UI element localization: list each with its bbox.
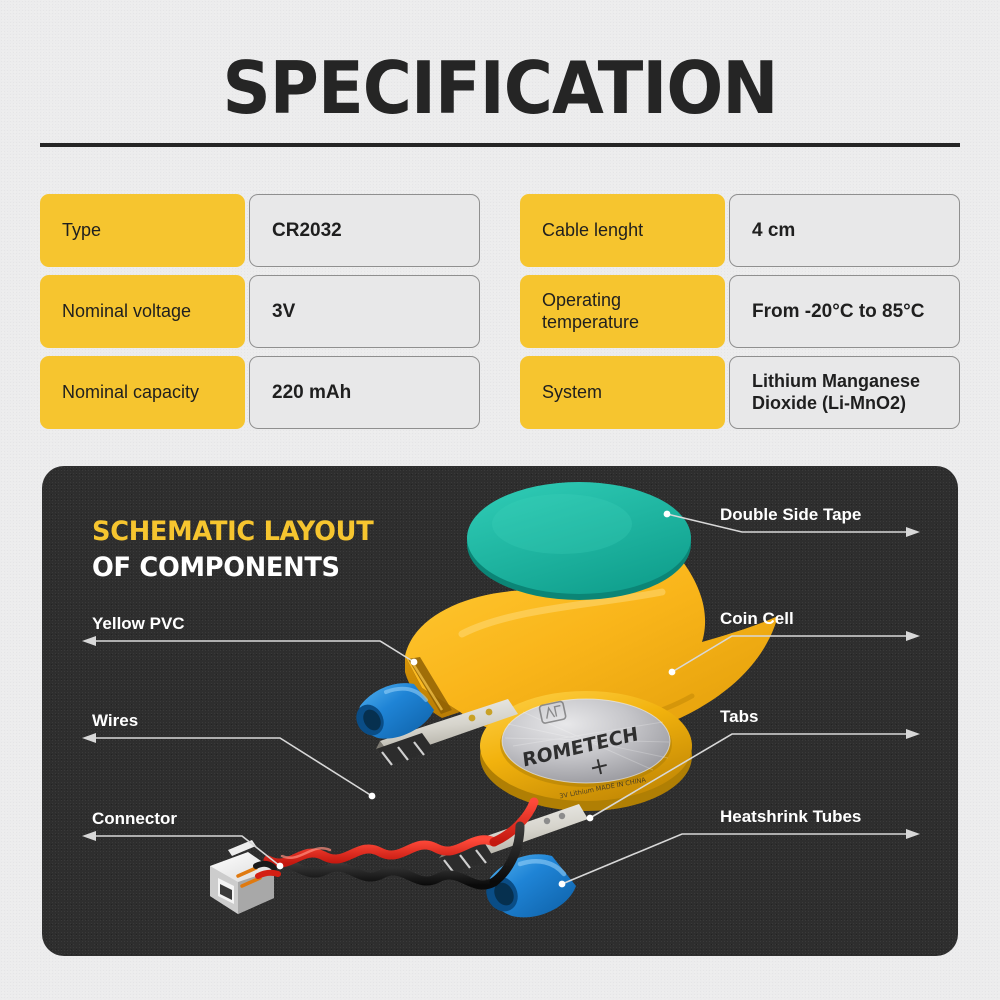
spec-row-cable-length: Cable lenght 4 cm bbox=[520, 194, 960, 267]
spec-key-operating-temperature: Operating temperature bbox=[520, 275, 725, 348]
spec-value-nominal-capacity: 220 mAh bbox=[249, 356, 480, 429]
spec-value-cable-length: 4 cm bbox=[729, 194, 960, 267]
callout-leader-lines bbox=[42, 466, 958, 956]
callout-label-connector: Connector bbox=[92, 809, 177, 829]
spec-value-type: CR2032 bbox=[249, 194, 480, 267]
spec-value-operating-temperature: From -20°C to 85°C bbox=[729, 275, 960, 348]
callout-label-tabs: Tabs bbox=[720, 707, 758, 727]
spec-row-nominal-voltage: Nominal voltage 3V bbox=[40, 275, 480, 348]
spec-key-type: Type bbox=[40, 194, 245, 267]
spec-key-system: System bbox=[520, 356, 725, 429]
spec-key-nominal-voltage: Nominal voltage bbox=[40, 275, 245, 348]
page-title: SPECIFICATION bbox=[35, 46, 965, 130]
spec-row-system: System Lithium Manganese Dioxide (Li-MnO… bbox=[520, 356, 960, 429]
callout-label-double-side-tape: Double Side Tape bbox=[720, 505, 861, 525]
title-divider-rule bbox=[40, 143, 960, 147]
spec-row-type: Type CR2032 bbox=[40, 194, 480, 267]
callout-label-wires: Wires bbox=[92, 711, 138, 731]
spec-key-cable-length: Cable lenght bbox=[520, 194, 725, 267]
callout-label-yellow-pvc: Yellow PVC bbox=[92, 614, 185, 634]
callout-label-coin-cell: Coin Cell bbox=[720, 609, 794, 629]
callout-label-heatshrink-tubes: Heatshrink Tubes bbox=[720, 807, 861, 827]
spec-row-nominal-capacity: Nominal capacity 220 mAh bbox=[40, 356, 480, 429]
spec-key-nominal-capacity: Nominal capacity bbox=[40, 356, 245, 429]
schematic-panel: SCHEMATIC LAYOUT OF COMPONENTS bbox=[42, 466, 958, 956]
spec-value-nominal-voltage: 3V bbox=[249, 275, 480, 348]
spec-row-operating-temperature: Operating temperature From -20°C to 85°C bbox=[520, 275, 960, 348]
spec-value-system: Lithium Manganese Dioxide (Li-MnO2) bbox=[729, 356, 960, 429]
specification-infographic: SPECIFICATION Type CR2032 Cable lenght 4… bbox=[0, 0, 1000, 1000]
specification-table: Type CR2032 Cable lenght 4 cm Nominal vo… bbox=[40, 194, 960, 429]
